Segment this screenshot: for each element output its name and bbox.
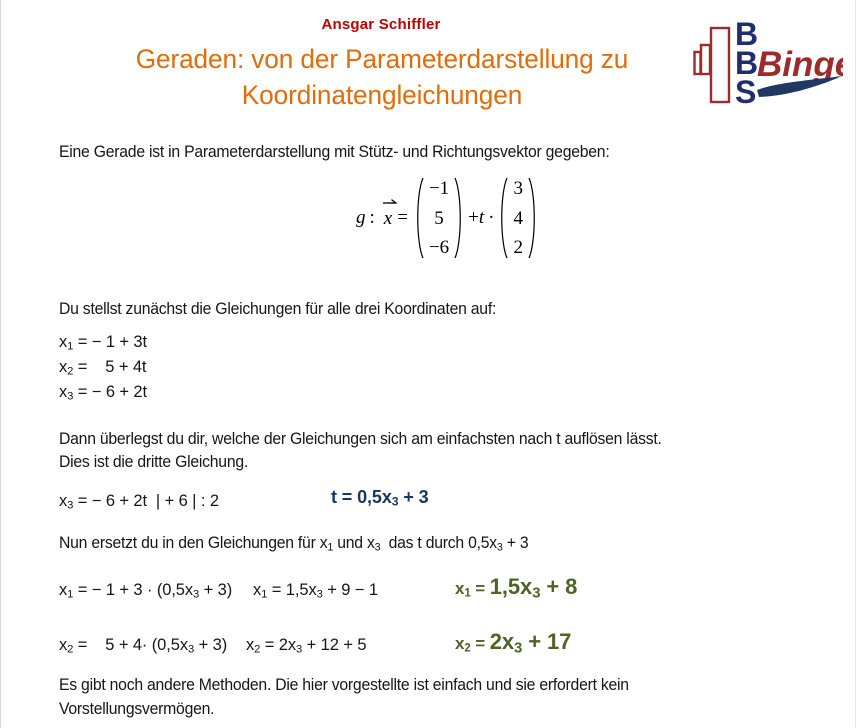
x1-result-expression: 1,5x3 + 8 — [490, 574, 578, 599]
x1-step-a-end: + 3) — [199, 581, 232, 599]
support-vector: −1 5 −6 — [413, 176, 465, 260]
formula-multiply: · — [488, 207, 494, 229]
author-name: Ansgar Schiffler — [1, 16, 761, 33]
support-vector-component-1: −1 — [429, 179, 449, 198]
x2-step-a-post: = 5 + 4· (0,5x — [73, 636, 188, 654]
x1-step-b-end: + 9 − 1 — [323, 581, 378, 599]
formula-plus-t: +t — [468, 207, 484, 229]
x2-step-a-pre: x — [59, 636, 67, 654]
x2-step-b-post: = 2x — [260, 636, 296, 654]
x2-step-b-pre: x — [246, 636, 254, 654]
x1-result-lead-post: = — [471, 579, 490, 598]
direction-vector-components: 3 4 2 — [508, 176, 528, 260]
coord-eq-3-lhs: x — [59, 383, 67, 401]
solve-t-lhs: x — [59, 492, 67, 510]
paren-right-icon — [528, 176, 539, 260]
step2-instruction-line-2: Dies ist die dritte Gleichung. — [59, 450, 248, 475]
step3-text-b: und x — [333, 534, 374, 552]
vector-arrow-icon — [383, 197, 397, 206]
outro-line-1: Es gibt noch andere Methoden. Die hier v… — [59, 673, 629, 698]
x1-result-lead-pre: x — [455, 579, 464, 598]
support-vector-components: −1 5 −6 — [424, 176, 454, 260]
x2-result-lead-pre: x — [455, 634, 464, 653]
x1-substitution-step: x1 = − 1 + 3 · (0,5x3 + 3) — [59, 578, 232, 607]
x2-result-expression: 2x3 + 17 — [490, 629, 572, 654]
x2-result: x2 = 2x3 + 17 — [455, 629, 571, 662]
intro-paragraph: Eine Gerade ist in Parameterdarstellung … — [59, 140, 609, 165]
page-title-line-2: Koordinatengleichungen — [12, 77, 751, 113]
step3-text-a: Nun ersetzt du in den Gleichungen für x — [59, 534, 327, 552]
x1-step-a-pre: x — [59, 581, 67, 599]
vector-x: x — [384, 206, 392, 230]
coord-eq-1-lhs: x — [59, 333, 67, 351]
vector-x-letter: x — [384, 208, 392, 229]
paren-right-icon — [454, 176, 465, 260]
x2-step-a-end: + 3) — [194, 636, 227, 654]
step3-instruction: Nun ersetzt du in den Gleichungen für x1… — [59, 531, 528, 560]
step3-text-d: + 3 — [503, 534, 529, 552]
direction-vector-component-1: 3 — [513, 179, 523, 198]
step1-instruction: Du stellst zunächst die Gleichungen für … — [59, 297, 496, 322]
x2-simplify-step: x2 = 2x3 + 12 + 5 — [246, 633, 366, 662]
direction-vector: 3 4 2 — [497, 176, 539, 260]
x2-result-big-post: + 17 — [522, 629, 571, 654]
paren-left-icon — [497, 176, 508, 260]
bbs-bingen-logo: B B S Bingen — [693, 14, 843, 112]
x1-result-lead: x1 = — [455, 579, 490, 598]
solve-t-result-pre: t = 0,5x — [331, 487, 392, 507]
page-title-line-1: Geraden: von der Parameterdarstellung zu — [12, 41, 751, 77]
x1-result-big-post: + 8 — [540, 574, 577, 599]
outro-line-2: Vorstellungsvermögen. — [59, 697, 214, 722]
support-vector-component-3: −6 — [429, 238, 449, 257]
x1-step-b-pre: x — [253, 581, 261, 599]
coord-eq-2-lhs: x — [59, 358, 67, 376]
direction-vector-component-2: 4 — [513, 209, 523, 228]
coord-eq-1-rhs: = − 1 + 3t — [73, 333, 147, 351]
x1-step-a-post: = − 1 + 3 · (0,5x — [73, 581, 193, 599]
step3-text-c: das t durch 0,5x — [380, 534, 497, 552]
solve-for-t-working: x3 = − 6 + 2t | + 6 | : 2 — [59, 489, 219, 518]
formula-equals: = — [397, 207, 408, 229]
formula-colon: : — [370, 207, 375, 229]
x2-substitution-step: x2 = 5 + 4· (0,5x3 + 3) — [59, 633, 227, 662]
line-label-g: g — [356, 207, 366, 229]
page-title: Geraden: von der Parameterdarstellung zu… — [12, 41, 751, 113]
support-vector-component-2: 5 — [434, 209, 444, 228]
x1-result-big-pre: 1,5x — [490, 574, 532, 599]
coord-eq-3-rhs: = − 6 + 2t — [73, 383, 147, 401]
formula-plus: + — [468, 207, 479, 228]
x2-step-b-end: + 12 + 5 — [302, 636, 366, 654]
x1-simplify-step: x1 = 1,5x3 + 9 − 1 — [253, 578, 378, 607]
formula-parameter-t: t — [479, 207, 484, 228]
x1-result: x1 = 1,5x3 + 8 — [455, 574, 577, 607]
x2-result-lead-post: = — [471, 634, 490, 653]
x2-result-lead: x2 = — [455, 634, 490, 653]
solve-for-t-result: t = 0,5x3 + 3 — [331, 485, 429, 515]
vector-equation: g : x = −1 5 −6 +t · — [356, 176, 539, 260]
slide-page: Ansgar Schiffler Geraden: von der Parame… — [0, 0, 856, 728]
coordinate-equation-3: x3 = − 6 + 2t — [59, 380, 147, 409]
solve-t-result-post: + 3 — [398, 487, 428, 507]
x1-step-b-post: = 1,5x — [267, 581, 316, 599]
x2-result-big-pre: 2x — [490, 629, 514, 654]
direction-vector-component-3: 2 — [513, 238, 523, 257]
solve-t-rhs: = − 6 + 2t | + 6 | : 2 — [73, 492, 219, 510]
svg-text:S: S — [735, 74, 756, 110]
paren-left-icon — [413, 176, 424, 260]
coord-eq-2-rhs: = 5 + 4t — [73, 358, 146, 376]
logo-graphic: B B S Bingen — [693, 14, 843, 112]
step2-instruction-line-1: Dann überlegst du dir, welche der Gleich… — [59, 427, 662, 452]
